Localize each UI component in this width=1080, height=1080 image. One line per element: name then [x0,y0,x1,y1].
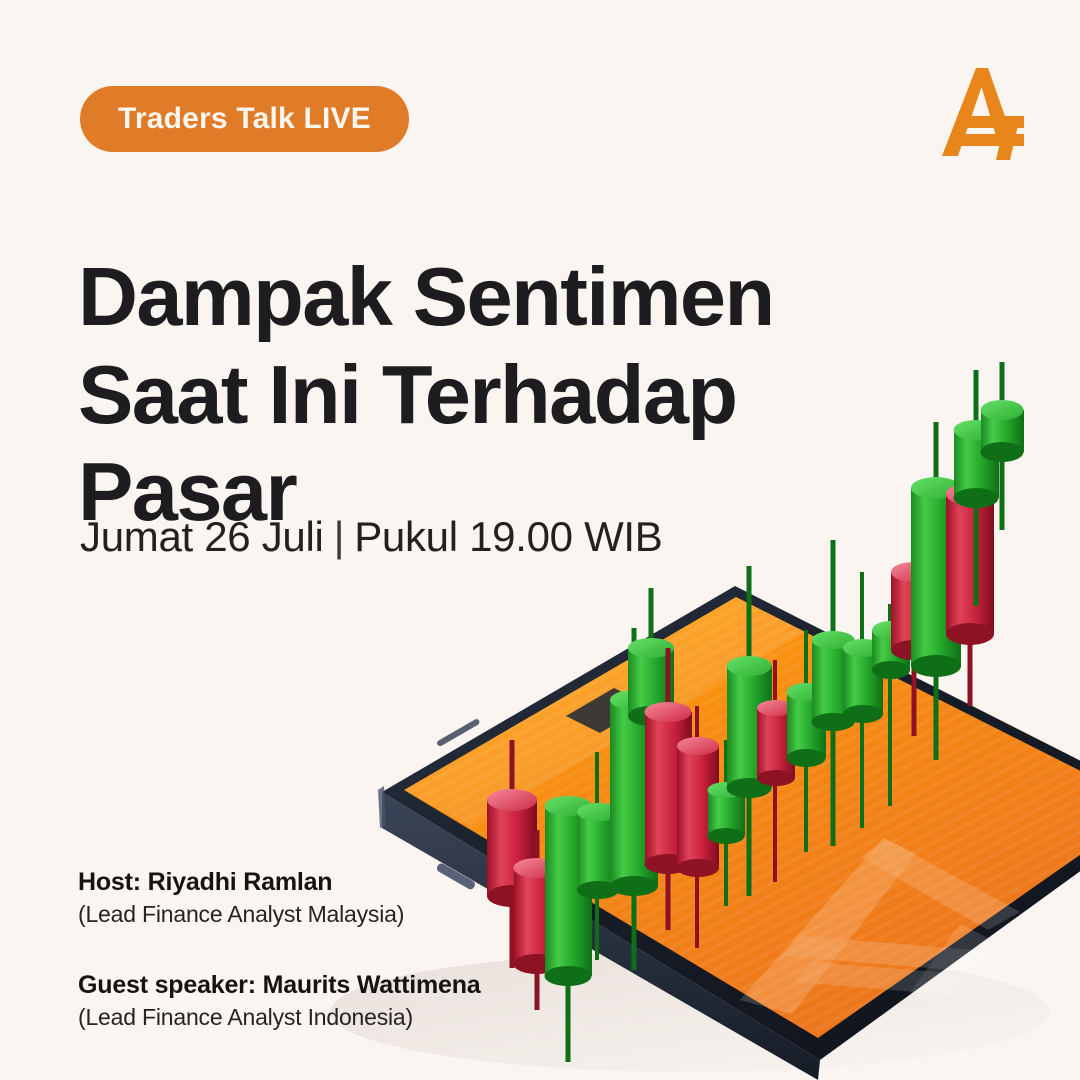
badge-label: Traders Talk LIVE [118,102,371,136]
schedule-line: Jumat 26 Juli|Pukul 19.00 WIB [80,513,663,561]
schedule-separator: | [324,513,355,560]
screen-watermark-a-logo [740,838,1020,1014]
credit-role: (Lead Finance Analyst Malaysia) [78,901,481,928]
credit-role: (Lead Finance Analyst Indonesia) [78,1004,481,1031]
headline-line-2: Saat Ini Terhadap [78,346,798,444]
credit-host: Host: Riyadhi Ramlan (Lead Finance Analy… [78,868,481,928]
schedule-date: Jumat 26 Juli [80,513,324,560]
credit-name: Guest speaker: Maurits Wattimena [78,971,481,1000]
traders-talk-live-badge[interactable]: Traders Talk LIVE [80,86,409,152]
page-title: Dampak Sentimen Saat Ini Terhadap Pasar [78,248,798,542]
ajaib-a-logo-icon [928,58,1038,163]
promo-poster: Traders Talk LIVE Dampak Sentimen Saat I… [0,0,1080,1080]
credits-block: Host: Riyadhi Ramlan (Lead Finance Analy… [78,868,481,1031]
schedule-time: Pukul 19.00 WIB [354,513,662,560]
credit-guest-speaker: Guest speaker: Maurits Wattimena (Lead F… [78,971,481,1031]
smartphone-illustration [378,586,1080,1080]
credit-name: Host: Riyadhi Ramlan [78,868,481,897]
headline-line-1: Dampak Sentimen [78,248,798,346]
